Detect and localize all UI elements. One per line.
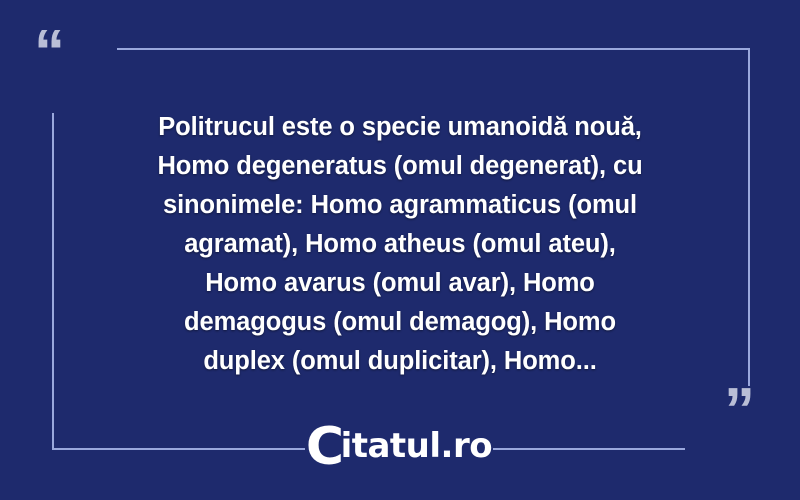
frame-border-bottom-left	[52, 448, 305, 450]
site-logo-text: Citatul.ro	[306, 427, 492, 469]
frame-border-top	[117, 48, 750, 50]
quote-open-icon: “	[34, 22, 65, 84]
site-logo-capital: C	[306, 417, 344, 477]
quote-card: “ Politrucul este o specie umanoidă nouă…	[0, 0, 800, 500]
site-logo-rest: itatul.ro	[341, 426, 493, 466]
frame-border-bottom-right	[493, 448, 685, 450]
frame-border-right	[748, 48, 750, 386]
quote-text: Politrucul este o specie umanoidă nouă, …	[72, 108, 728, 381]
frame-border-left	[52, 113, 54, 450]
quote-close-icon: ”	[724, 380, 755, 442]
site-logo[interactable]: Citatul.ro	[305, 419, 493, 477]
